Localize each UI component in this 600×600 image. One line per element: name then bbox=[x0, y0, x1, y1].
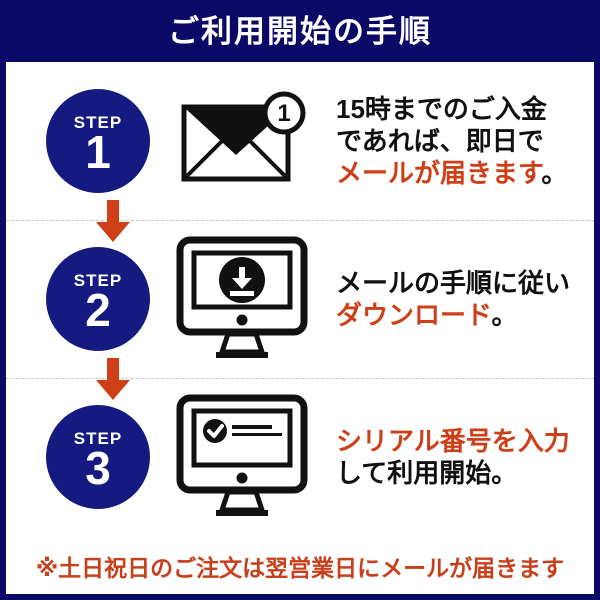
step2-line-1: メールの手順に従い bbox=[336, 267, 586, 299]
step-icon-cell-3 bbox=[162, 392, 322, 523]
step-badge-2: STEP 2 bbox=[46, 247, 150, 351]
envelope-icon: 1 bbox=[176, 87, 308, 196]
step-text-1: 15時までのご入金 であれば、即日で メールが届きます。 bbox=[322, 93, 594, 190]
down-arrow-step1-to-step2 bbox=[96, 200, 130, 242]
step-badge-1: STEP 1 bbox=[46, 89, 150, 193]
arrow-shaft bbox=[107, 358, 119, 382]
step-number-1: 1 bbox=[85, 129, 111, 175]
monitor-checkmark-icon bbox=[172, 392, 312, 523]
page-title: ご利用開始の手順 bbox=[168, 16, 432, 47]
svg-text:1: 1 bbox=[277, 100, 290, 127]
step-icon-cell-1: 1 bbox=[162, 87, 322, 196]
monitor-download-icon bbox=[172, 234, 312, 365]
step-text-3: シリアル番号を入力 して利用開始。 bbox=[322, 425, 594, 489]
step-text-2: メールの手順に従い ダウンロード。 bbox=[322, 267, 594, 331]
step1-line-2: であれば、即日で bbox=[336, 125, 586, 157]
step-row-1: STEP 1 1 15時までのご入金 であれば、即日で bbox=[6, 62, 594, 220]
step1-line-1: 15時までのご入金 bbox=[336, 93, 586, 125]
arrow-shaft bbox=[107, 200, 119, 224]
step-badge-3: STEP 3 bbox=[46, 405, 150, 509]
step2-line-2-text: ダウンロード bbox=[336, 300, 491, 330]
footer-note-bar: ※土日祝日のご注文は翌営業日にメールが届きます bbox=[6, 538, 594, 594]
step3-line-1: シリアル番号を入力 bbox=[336, 425, 586, 457]
arrow-head bbox=[96, 222, 130, 242]
step1-line-3: メールが届きます。 bbox=[336, 157, 586, 189]
promo-steps-graphic: ご利用開始の手順 STEP 1 1 bbox=[0, 0, 600, 600]
step1-line-3-text: メールが届きます bbox=[336, 158, 541, 188]
arrow-head bbox=[96, 380, 130, 400]
step-icon-cell-2 bbox=[162, 234, 322, 365]
steps-container: STEP 1 1 15時までのご入金 であれば、即日で bbox=[6, 62, 594, 538]
footer-note: ※土日祝日のご注文は翌営業日にメールが届きます bbox=[36, 549, 564, 583]
step1-line-3-period: 。 bbox=[541, 158, 567, 188]
step-number-2: 2 bbox=[85, 287, 111, 333]
down-arrow-step2-to-step3 bbox=[96, 358, 130, 400]
step3-line-2: して利用開始。 bbox=[336, 457, 586, 489]
step2-line-2-period: 。 bbox=[491, 300, 517, 330]
step-number-3: 3 bbox=[85, 445, 111, 491]
header-banner: ご利用開始の手順 bbox=[0, 0, 600, 62]
step2-line-2: ダウンロード。 bbox=[336, 299, 586, 331]
step-row-3: STEP 3 bbox=[6, 378, 594, 536]
step-row-2: STEP 2 bbox=[6, 220, 594, 378]
